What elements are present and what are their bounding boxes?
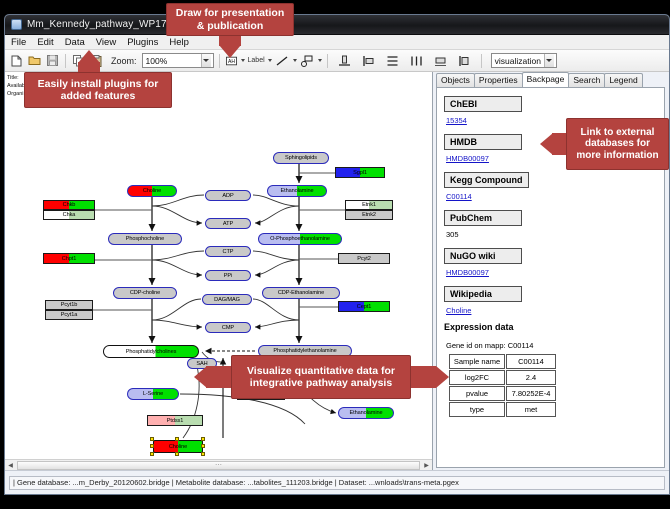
zoom-label: Zoom: <box>111 56 137 66</box>
doc-organism-label: Organi <box>7 90 25 98</box>
exp-value-log2fc: 2.4 <box>506 370 556 385</box>
callout-plugins-line2: added features <box>61 90 136 102</box>
node-phosphatidylcholines[interactable]: Phosphatidylcholines <box>103 345 199 358</box>
node-phosphocholine[interactable]: Phosphocholine <box>108 233 182 245</box>
node-label: Cept1 <box>357 304 371 310</box>
selection-handle-ne[interactable] <box>201 437 205 441</box>
node-label: CDP-Ethanolamine <box>278 290 324 296</box>
gene-chkb[interactable]: Chkb <box>43 200 95 210</box>
label-tool-label[interactable]: Label <box>248 57 265 64</box>
selection-handle-n[interactable] <box>175 437 179 441</box>
node-ethanolamine-top[interactable]: Ethanolamine <box>267 185 327 197</box>
node-label: Etnk1 <box>362 202 376 208</box>
node-dag-mag[interactable]: DAG/MAG <box>202 294 252 305</box>
shape-chevron-down-icon[interactable] <box>318 59 322 62</box>
align-left-icon[interactable] <box>361 53 376 68</box>
gene-ptdss1[interactable]: Ptdss1 <box>147 415 203 426</box>
status-text: | Gene database: ...m_Derby_20120602.bri… <box>9 476 665 490</box>
callout-link-databases: Link to external databases for more info… <box>566 118 669 170</box>
side-panel-tabs: Objects Properties Backpage Search Legen… <box>433 72 669 87</box>
db-title-hmdb: HMDB <box>444 134 522 150</box>
callout-visualize-arrow-left-icon <box>194 366 207 388</box>
table-row: log2FC 2.4 <box>449 370 556 385</box>
tab-properties[interactable]: Properties <box>474 73 523 87</box>
gene-etnk1[interactable]: Etnk1 <box>345 200 393 210</box>
node-label: CDP-choline <box>130 290 160 296</box>
node-label: PPi <box>224 273 232 279</box>
selection-handle-e[interactable] <box>201 444 205 448</box>
exp-value-sample-name: C00114 <box>506 354 556 369</box>
line-tool-icon[interactable] <box>275 53 290 68</box>
node-label: Phosphocholine <box>126 236 164 242</box>
exp-key-pvalue: pvalue <box>449 386 505 401</box>
toolbar-separator-4 <box>481 54 482 68</box>
label-chevron-down-icon[interactable] <box>268 59 272 62</box>
exp-key-log2fc: log2FC <box>449 370 505 385</box>
node-label: Chkb <box>63 202 76 208</box>
node-ppi[interactable]: PPi <box>205 270 251 281</box>
menu-view[interactable]: View <box>95 37 117 48</box>
node-label: O-Phosphoethanolamine <box>270 236 330 242</box>
callout-visualize-line1: Visualize quantitative data for <box>247 365 395 377</box>
callout-draw-line2: & publication <box>197 20 264 32</box>
same-width-icon[interactable] <box>433 53 448 68</box>
new-file-icon[interactable] <box>9 53 24 68</box>
node-label: Chpt1 <box>62 256 76 262</box>
menu-plugins[interactable]: Plugins <box>126 37 159 48</box>
callout-link-arrow-left-icon <box>540 133 553 155</box>
visualization-value: visualization <box>495 56 541 66</box>
exp-key-type: type <box>449 402 505 417</box>
callout-visualize-line2: integrative pathway analysis <box>250 377 392 389</box>
gene-sgpl1[interactable]: Sgpl1 <box>335 167 385 178</box>
node-label: CTP <box>223 249 234 255</box>
node-label: Pcyt1a <box>61 312 78 318</box>
table-row: Sample name C00114 <box>449 354 556 369</box>
menu-edit[interactable]: Edit <box>36 37 54 48</box>
callout-link-line1: Link to external <box>581 127 655 139</box>
table-row: pvalue 7.80252E-4 <box>449 386 556 401</box>
node-label: Choline <box>169 444 187 450</box>
exp-value-type: met <box>506 402 556 417</box>
doc-available-label: Availab <box>7 82 25 90</box>
tab-backpage[interactable]: Backpage <box>522 72 570 87</box>
exp-value-pvalue: 7.80252E-4 <box>506 386 556 401</box>
scroll-right-arrow-icon[interactable]: ▶ <box>421 460 432 471</box>
tab-search[interactable]: Search <box>568 73 605 87</box>
gene-pcyt1a[interactable]: Pcyt1a <box>45 310 93 320</box>
document-info: Title: Availab Organi <box>7 74 25 98</box>
status-bar: | Gene database: ...m_Derby_20120602.bri… <box>5 470 669 494</box>
node-label: Pcyt1b <box>61 302 78 308</box>
db-link-nugo-wiki[interactable]: HMDB00097 <box>446 268 664 277</box>
callout-draw: Draw for presentation & publication <box>166 3 294 36</box>
db-title-wikipedia: Wikipedia <box>444 286 522 302</box>
callout-visualize: Visualize quantitative data for integrat… <box>231 355 411 399</box>
node-label: Ethanolamine <box>349 410 382 416</box>
zoom-value: 100% <box>146 56 168 66</box>
selection-handle-se[interactable] <box>201 452 205 456</box>
doc-title-label: Title: <box>7 74 25 82</box>
callout-visualize-stem-right <box>410 366 436 388</box>
selection-handle-s[interactable] <box>175 452 179 456</box>
menu-file[interactable]: File <box>10 37 27 48</box>
node-label: Ethanolamine <box>280 188 313 194</box>
save-disk-icon[interactable] <box>45 53 60 68</box>
node-label: Sphingolipids <box>285 155 317 161</box>
node-l-serine-left[interactable]: L-Serine <box>127 388 179 400</box>
db-title-kegg: Kegg Compound <box>444 172 529 188</box>
node-cmp[interactable]: CMP <box>205 322 251 333</box>
node-sphingolipids[interactable]: Sphingolipids <box>273 152 329 164</box>
node-label: ATP <box>223 221 233 227</box>
node-label: Sgpl1 <box>353 170 367 176</box>
toolbar-separator-1 <box>65 54 66 68</box>
menu-bar: File Edit Data View Plugins Help <box>5 35 669 50</box>
node-label: ADP <box>222 193 233 199</box>
svg-text:AH: AH <box>227 59 234 65</box>
tab-objects[interactable]: Objects <box>436 73 475 87</box>
zoom-chevron-down-icon[interactable] <box>201 54 211 67</box>
datanode-chevron-down-icon[interactable] <box>241 59 245 62</box>
node-label: CMP <box>222 325 234 331</box>
distribute-vertical-icon[interactable] <box>385 53 400 68</box>
tool-bar: Zoom: 100% AH Label <box>5 50 669 72</box>
node-cdp-ethanolamine[interactable]: CDP-Ethanolamine <box>262 287 340 299</box>
same-height-icon[interactable] <box>457 53 472 68</box>
selection-handle-w[interactable] <box>150 444 154 448</box>
db-link-kegg[interactable]: C00114 <box>446 192 664 201</box>
node-label: Choline <box>143 188 161 194</box>
expression-data-table: Sample name C00114 log2FC 2.4 pvalue 7.8… <box>448 353 557 418</box>
gene-pcyt2[interactable]: Pcyt2 <box>338 253 390 264</box>
gene-chka[interactable]: Chka <box>43 210 95 220</box>
scroll-left-arrow-icon[interactable]: ◀ <box>5 460 16 471</box>
node-adp[interactable]: ADP <box>205 190 251 201</box>
app-icon <box>11 19 22 30</box>
toolbar-separator-3 <box>327 54 328 68</box>
callout-plugins-line1: Easily install plugins for <box>38 78 159 90</box>
shape-tool-icon[interactable] <box>300 53 315 68</box>
pathway-canvas[interactable]: Title: Availab Organi <box>5 72 433 470</box>
expression-data-heading: Expression data <box>444 322 664 332</box>
gene-etnk2[interactable]: Etnk2 <box>345 210 393 220</box>
title-bar: Mm_Kennedy_pathway_WP1771_45176.gpml <box>5 15 669 35</box>
callout-plugins-arrow-up-icon <box>78 50 100 63</box>
node-choline-top[interactable]: Choline <box>127 185 177 197</box>
visualization-chevron-down-icon[interactable] <box>544 54 554 67</box>
node-label: Phosphatidylcholines <box>126 349 177 355</box>
db-link-wikipedia[interactable]: Choline <box>446 306 664 315</box>
align-top-icon[interactable] <box>337 53 352 68</box>
visualization-combo[interactable]: visualization <box>491 53 557 68</box>
node-o-phosphoethanolamine[interactable]: O-Phosphoethanolamine <box>258 233 342 245</box>
gene-pcyt1b[interactable]: Pcyt1b <box>45 300 93 310</box>
selection-handle-sw[interactable] <box>150 452 154 456</box>
exp-key-sample-name: Sample name <box>449 354 505 369</box>
gene-chpt1[interactable]: Chpt1 <box>43 253 95 264</box>
callout-visualize-stem-left <box>206 366 232 388</box>
node-ethanolamine-right[interactable]: Ethanolamine <box>338 407 394 419</box>
line-chevron-down-icon[interactable] <box>293 59 297 62</box>
selection-handle-nw[interactable] <box>150 437 154 441</box>
node-cdp-choline[interactable]: CDP-choline <box>113 287 177 299</box>
node-label: Ptdss1 <box>167 418 184 424</box>
callout-visualize-arrow-right-icon <box>436 366 449 388</box>
callout-link-line2: databases for <box>585 138 650 150</box>
db-title-chebi: ChEBI <box>444 96 522 112</box>
gene-id-on-mapp: Gene id on mapp: C00114 <box>446 341 664 350</box>
menu-help[interactable]: Help <box>168 37 190 48</box>
open-folder-icon[interactable] <box>27 53 42 68</box>
menu-data[interactable]: Data <box>64 37 86 48</box>
gene-cept1[interactable]: Cept1 <box>338 301 390 312</box>
db-title-pubchem: PubChem <box>444 210 522 226</box>
node-label: Chka <box>63 212 76 218</box>
scroll-thumb[interactable]: ⋯ <box>17 461 420 470</box>
node-atp[interactable]: ATP <box>205 218 251 229</box>
callout-draw-line1: Draw for presentation <box>176 7 285 19</box>
callout-plugins: Easily install plugins for added feature… <box>24 72 172 108</box>
callout-draw-arrow-down-icon <box>219 45 241 58</box>
node-label: Etnk2 <box>362 212 376 218</box>
distribute-horizontal-icon[interactable] <box>409 53 424 68</box>
node-label: Phosphatidylethanolamine <box>273 348 336 354</box>
db-title-nugo-wiki: NuGO wiki <box>444 248 522 264</box>
tab-legend[interactable]: Legend <box>604 73 642 87</box>
zoom-combo[interactable]: 100% <box>142 53 214 68</box>
node-ctp[interactable]: CTP <box>205 246 251 257</box>
canvas-horizontal-scrollbar[interactable]: ◀ ⋯ ▶ <box>5 459 432 470</box>
table-row: type met <box>449 402 556 417</box>
node-label: Pcyt2 <box>357 256 371 262</box>
db-value-pubchem: 305 <box>446 230 664 239</box>
node-label: L-Serine <box>143 391 163 397</box>
node-label: DAG/MAG <box>214 297 240 303</box>
callout-link-line3: more information <box>576 150 658 162</box>
